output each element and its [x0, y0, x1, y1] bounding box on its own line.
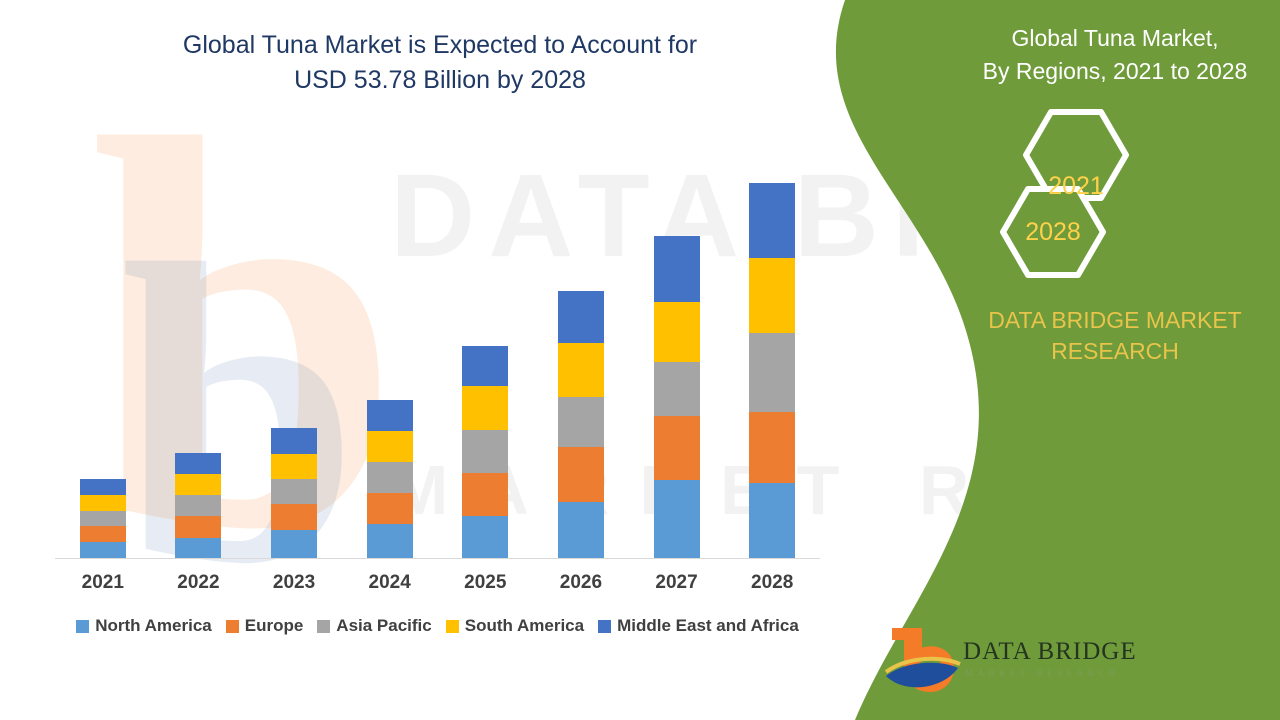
legend-label: North America	[95, 616, 212, 636]
logo-subtitle: MARKET RESEARCH	[965, 668, 1120, 678]
legend-item[interactable]: North America	[76, 616, 212, 636]
legend-item[interactable]: Europe	[226, 616, 304, 636]
stacked-bar-chart-plot	[55, 120, 820, 558]
bar-segment	[462, 473, 508, 516]
x-axis-tick-label: 2023	[246, 572, 342, 594]
x-axis-tick-label: 2026	[533, 572, 629, 594]
hexagon-label-2028: 2028	[1003, 218, 1103, 247]
bar-segment	[367, 524, 413, 558]
data-bridge-logo: DATA BRIDGE MARKET RESEARCH	[880, 628, 1120, 703]
bar-segment	[80, 479, 126, 495]
legend-swatch-icon	[317, 620, 330, 633]
bar-segment	[80, 542, 126, 558]
bar-segment	[271, 504, 317, 530]
chart-legend: North AmericaEuropeAsia PacificSouth Ame…	[55, 616, 820, 636]
x-axis-line	[55, 558, 820, 559]
legend-swatch-icon	[226, 620, 239, 633]
x-axis-tick-label: 2028	[724, 572, 820, 594]
bar-segment	[271, 479, 317, 504]
bar-segment	[749, 333, 795, 412]
bar-segment	[462, 430, 508, 473]
bar-segment	[558, 291, 604, 343]
legend-item[interactable]: Asia Pacific	[317, 616, 431, 636]
bar-segment	[367, 462, 413, 493]
x-axis-tick-label: 2025	[438, 572, 534, 594]
legend-swatch-icon	[598, 620, 611, 633]
chart-title: Global Tuna Market is Expected to Accoun…	[120, 28, 760, 98]
bar-segment	[558, 447, 604, 502]
bar-segment	[462, 386, 508, 430]
bar-segment	[80, 526, 126, 542]
x-axis-tick-label: 2021	[55, 572, 151, 594]
bar-segment	[80, 511, 126, 526]
bar-segment	[175, 453, 221, 474]
legend-item[interactable]: Middle East and Africa	[598, 616, 799, 636]
stacked-bar	[271, 428, 317, 558]
legend-swatch-icon	[76, 620, 89, 633]
stacked-bar	[654, 236, 700, 558]
bar-column	[533, 120, 629, 558]
bar-segment	[175, 474, 221, 495]
bar-segment	[654, 362, 700, 416]
green-panel-content: Global Tuna Market, By Regions, 2021 to …	[845, 0, 1280, 720]
bar-segment	[654, 480, 700, 558]
bar-segment	[175, 495, 221, 516]
legend-item[interactable]: South America	[446, 616, 584, 636]
x-axis-tick-label: 2024	[342, 572, 438, 594]
bar-segment	[80, 495, 126, 511]
bar-segment	[654, 236, 700, 302]
bar-segment	[367, 431, 413, 462]
legend-swatch-icon	[446, 620, 459, 633]
bar-column	[438, 120, 534, 558]
stacked-bar	[175, 453, 221, 558]
bar-column	[55, 120, 151, 558]
bar-segment	[271, 454, 317, 479]
bar-column	[724, 120, 820, 558]
legend-label: Middle East and Africa	[617, 616, 799, 636]
bar-segment	[654, 302, 700, 362]
bar-segment	[558, 397, 604, 447]
bar-segment	[749, 412, 795, 483]
stacked-bar	[367, 400, 413, 558]
hexagon-badges	[845, 0, 1280, 300]
bar-segment	[749, 183, 795, 258]
bar-segment	[271, 530, 317, 558]
bar-segment	[462, 516, 508, 558]
legend-label: Asia Pacific	[336, 616, 431, 636]
infographic-slide: b b DATA BRIDGE MARKET RESEARCH Global T…	[0, 0, 1280, 720]
stacked-bar	[80, 479, 126, 558]
stacked-bar	[749, 183, 795, 558]
brand-name: DATA BRIDGE MARKET RESEARCH	[950, 305, 1280, 367]
bar-segment	[175, 516, 221, 538]
brand-line-1: DATA BRIDGE MARKET	[950, 305, 1280, 336]
bar-segment	[749, 258, 795, 333]
brand-line-2: RESEARCH	[950, 336, 1280, 367]
bar-segment	[175, 538, 221, 558]
stacked-bar	[462, 346, 508, 558]
bar-segment	[462, 346, 508, 386]
legend-label: Europe	[245, 616, 304, 636]
x-axis-tick-label: 2027	[629, 572, 725, 594]
bar-column	[342, 120, 438, 558]
legend-label: South America	[465, 616, 584, 636]
hexagon-label-2021: 2021	[1026, 172, 1126, 201]
bar-column	[246, 120, 342, 558]
bar-segment	[271, 428, 317, 454]
bar-column	[151, 120, 247, 558]
x-axis-labels: 20212022202320242025202620272028	[55, 572, 820, 594]
bar-segment	[367, 493, 413, 524]
bar-segment	[749, 483, 795, 558]
bar-segment	[558, 502, 604, 558]
logo-text: DATA BRIDGE	[963, 638, 1137, 666]
chart-title-line-1: Global Tuna Market is Expected to Accoun…	[120, 28, 760, 63]
bar-segment	[654, 416, 700, 480]
bar-column	[629, 120, 725, 558]
x-axis-tick-label: 2022	[151, 572, 247, 594]
stacked-bar	[558, 291, 604, 558]
bar-segment	[558, 343, 604, 397]
chart-title-line-2: USD 53.78 Billion by 2028	[120, 63, 760, 98]
bar-segment	[367, 400, 413, 431]
